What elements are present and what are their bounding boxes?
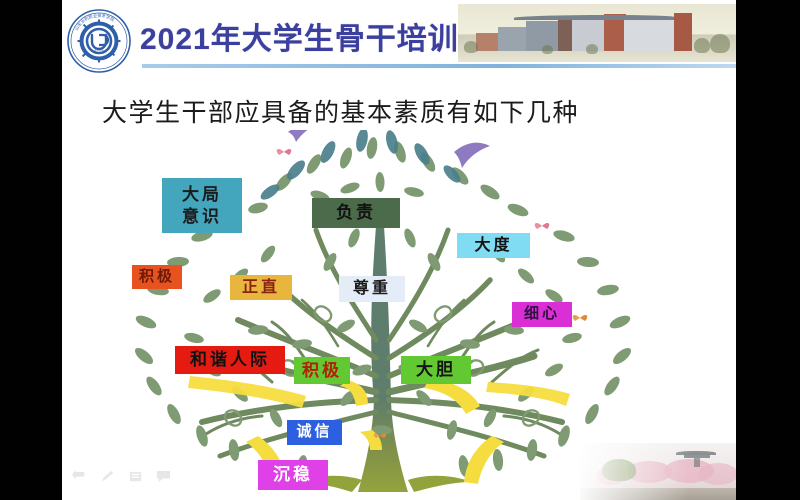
campus-building-photo: [458, 4, 736, 62]
university-emblem-icon: 1952 山东水利职业技术学院: [66, 8, 132, 74]
page-title: 2021年大学生骨干培训班: [140, 14, 490, 58]
pen-icon[interactable]: [100, 470, 115, 483]
annotation-toolbar[interactable]: [72, 470, 171, 483]
quality-label-respect: 尊重: [339, 276, 405, 302]
quality-label-attentive: 细心: [512, 302, 572, 327]
emblem-year-text: 1952: [94, 47, 104, 52]
quality-label-proactive-orange: 积极: [132, 265, 182, 289]
slide-header: 1952 山东水利职业技术学院 2021年大学生骨干培训班: [62, 0, 736, 78]
quality-label-magnanimous: 大度: [457, 233, 530, 258]
quality-label-harmonious-relations: 和谐人际: [175, 346, 285, 374]
screen-recording-frame: 1952 山东水利职业技术学院 2021年大学生骨干培训班: [0, 0, 800, 500]
quality-label-responsible: 负责: [312, 198, 400, 228]
quality-label-integrity: 诚信: [287, 420, 342, 445]
quality-label-bold: 大胆: [401, 356, 471, 384]
slide-heading: 大学生干部应具备的基本素质有如下几种: [102, 93, 579, 129]
letterbox-bar-right: [736, 0, 800, 500]
comment-icon[interactable]: [156, 470, 171, 483]
pointer-icon[interactable]: [72, 470, 87, 483]
quality-label-upright: 正直: [230, 275, 292, 300]
title-underline-rule: [142, 64, 736, 68]
quality-label-proactive-green: 积极: [294, 357, 350, 384]
quality-label-composed: 沉稳: [258, 460, 328, 490]
cherry-blossom-photo: [580, 443, 736, 500]
quality-label-global-awareness: 大局 意识: [162, 178, 242, 233]
note-icon[interactable]: [128, 470, 143, 483]
letterbox-bar-left: [0, 0, 62, 500]
presentation-slide: 1952 山东水利职业技术学院 2021年大学生骨干培训班: [62, 0, 736, 500]
